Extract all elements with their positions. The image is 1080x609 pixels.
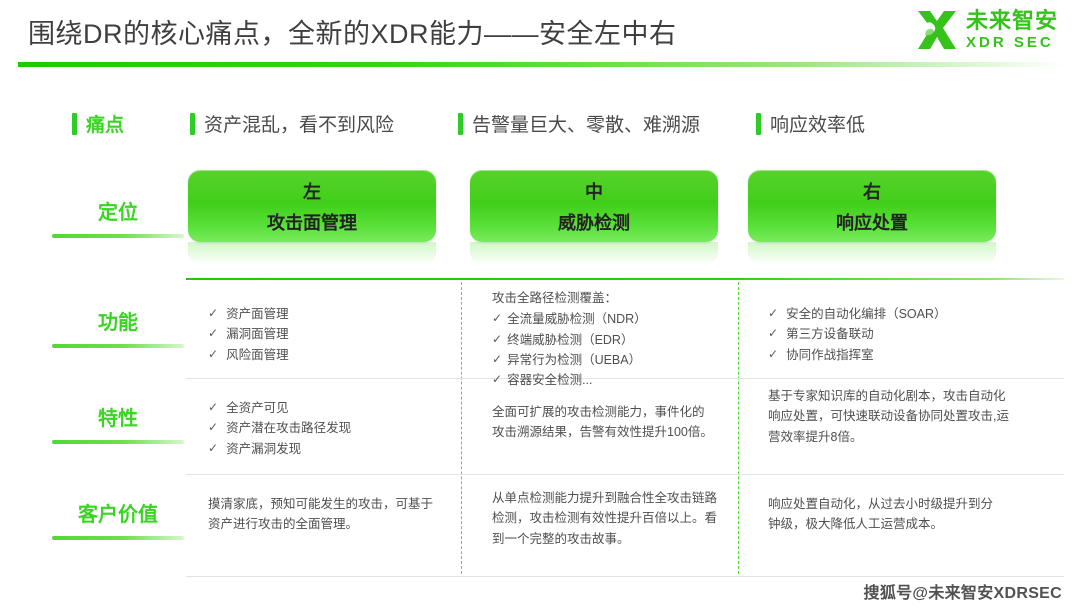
cell-function-col3: ✓安全的自动化编排（SOAR） ✓第三方设备联动 ✓协同作战指挥室 [768, 304, 1028, 365]
row-label-function-text: 功能 [52, 306, 184, 335]
list-item-label: 安全的自动化编排（SOAR） [786, 304, 946, 324]
position-box-middle-title: 中 [585, 178, 603, 204]
customer-value-col2-text: 从单点检测能力提升到融合性全攻击链路检测，攻击检测有效性提升百倍以上。看到一个完… [492, 488, 720, 549]
check-icon: ✓ [208, 304, 218, 323]
position-box-middle-subtitle: 威胁检测 [558, 209, 630, 235]
position-box-right-subtitle: 响应处置 [836, 209, 908, 235]
box-reflection [748, 242, 996, 264]
list-item-label: 风险面管理 [226, 345, 289, 365]
box-reflection [188, 242, 436, 264]
list-item: ✓容器安全检测... [492, 370, 732, 390]
green-bar-icon [72, 113, 77, 135]
list-item-label: 资产潜在攻击路径发现 [226, 418, 351, 438]
feature-col1-list: ✓全资产可见 ✓资产潜在攻击路径发现 ✓资产漏洞发现 [208, 398, 448, 459]
list-item-label: 第三方设备联动 [786, 324, 874, 344]
list-item: ✓全资产可见 [208, 398, 448, 418]
pain-point-row: 痛点 资产混乱，看不到风险 告警量巨大、零散、难溯源 响应效率低 [0, 104, 1080, 144]
cell-feature-col1: ✓全资产可见 ✓资产潜在攻击路径发现 ✓资产漏洞发现 [208, 398, 448, 459]
row-label-function: 功能 [52, 306, 184, 348]
pain-point-item-3: 响应效率低 [756, 110, 865, 137]
function-col1-list: ✓资产面管理 ✓漏洞面管理 ✓风险面管理 [208, 304, 448, 365]
cell-feature-col3: 基于专家知识库的自动化剧本，攻击自动化响应处置，可快速联动设备协同处置攻击,运营… [768, 386, 1013, 447]
pain-point-header-label: 痛点 [72, 110, 124, 137]
function-col2-list: ✓全流量威胁检测（NDR） ✓终端威胁检测（EDR） ✓异常行为检测（UEBA）… [492, 309, 732, 390]
list-item-label: 漏洞面管理 [226, 324, 289, 344]
row-label-customer-value: 客户价值 [52, 498, 184, 540]
check-icon: ✓ [492, 330, 502, 349]
list-item: ✓终端威胁检测（EDR） [492, 330, 732, 350]
list-item-label: 终端威胁检测（EDR） [507, 330, 633, 350]
column-separator-1 [461, 282, 462, 574]
check-icon: ✓ [768, 324, 778, 343]
position-box-left[interactable]: 左 攻击面管理 [188, 170, 436, 242]
list-item: ✓第三方设备联动 [768, 324, 1028, 344]
list-item-label: 容器安全检测... [507, 370, 592, 390]
list-item-label: 异常行为检测（UEBA） [507, 350, 641, 370]
pain-point-text-1: 资产混乱，看不到风险 [204, 110, 394, 137]
bottom-divider [186, 576, 1064, 577]
cell-customer-value-col1: 摸清家底，预知可能发生的攻击，可基于资产进行攻击的全面管理。 [208, 494, 440, 535]
logo-text-en: XDR SEC [966, 35, 1058, 50]
list-item: ✓资产潜在攻击路径发现 [208, 418, 448, 438]
feature-col3-text: 基于专家知识库的自动化剧本，攻击自动化响应处置，可快速联动设备协同处置攻击,运营… [768, 386, 1013, 447]
box-reflection [470, 242, 718, 264]
cell-feature-col2: 全面可扩展的攻击检测能力，事件化的攻击溯源结果，告警有效性提升100倍。 [492, 402, 714, 443]
list-item: ✓漏洞面管理 [208, 324, 448, 344]
row-label-feature: 特性 [52, 402, 184, 444]
green-bar-icon [190, 113, 195, 135]
list-item: ✓资产漏洞发现 [208, 439, 448, 459]
function-col3-list: ✓安全的自动化编排（SOAR） ✓第三方设备联动 ✓协同作战指挥室 [768, 304, 1028, 365]
list-item: ✓资产面管理 [208, 304, 448, 324]
matrix-body: 功能 ✓资产面管理 ✓漏洞面管理 ✓风险面管理 攻击全路径检测覆盖： ✓全流量威… [0, 282, 1080, 582]
brand-logo: 未来智安 XDR SEC [915, 8, 1058, 52]
row-label-underline [52, 440, 184, 444]
cell-function-col2: 攻击全路径检测覆盖： ✓全流量威胁检测（NDR） ✓终端威胁检测（EDR） ✓异… [492, 288, 732, 390]
check-icon: ✓ [492, 350, 502, 369]
cell-function-col1: ✓资产面管理 ✓漏洞面管理 ✓风险面管理 [208, 304, 448, 365]
page-title: 围绕DR的核心痛点，全新的XDR能力——安全左中右 [28, 12, 677, 51]
check-icon: ✓ [208, 439, 218, 458]
list-item-label: 全资产可见 [226, 398, 289, 418]
list-item: ✓异常行为检测（UEBA） [492, 350, 732, 370]
list-item: ✓协同作战指挥室 [768, 345, 1028, 365]
column-separator-2 [738, 282, 739, 574]
function-col2-lead: 攻击全路径检测覆盖： [492, 288, 732, 308]
list-item-label: 资产面管理 [226, 304, 289, 324]
pain-point-text-2: 告警量巨大、零散、难溯源 [472, 110, 700, 137]
pain-label-text: 痛点 [86, 110, 124, 137]
check-icon: ✓ [768, 345, 778, 364]
header-divider [18, 62, 1064, 67]
pain-point-text-3: 响应效率低 [770, 110, 865, 137]
logo-text-cn: 未来智安 [966, 10, 1058, 32]
customer-value-col1-text: 摸清家底，预知可能发生的攻击，可基于资产进行攻击的全面管理。 [208, 494, 440, 535]
row-label-underline [52, 536, 184, 540]
position-box-left-subtitle: 攻击面管理 [267, 209, 357, 235]
watermark: 搜狐号@未来智安XDRSEC [864, 579, 1062, 603]
row-label-customer-value-text: 客户价值 [52, 498, 184, 527]
cell-customer-value-col3: 响应处置自动化，从过去小时级提升到分钟级，极大降低人工运营成本。 [768, 494, 1000, 535]
green-bar-icon [458, 113, 463, 135]
list-item-label: 协同作战指挥室 [786, 345, 874, 365]
slide-header: 围绕DR的核心痛点，全新的XDR能力——安全左中右 未来智安 XDR SEC [0, 0, 1080, 62]
pain-point-item-1: 资产混乱，看不到风险 [190, 110, 394, 137]
check-icon: ✓ [208, 398, 218, 417]
cell-customer-value-col2: 从单点检测能力提升到融合性全攻击链路检测，攻击检测有效性提升百倍以上。看到一个完… [492, 488, 720, 549]
logo-mark-icon [915, 8, 959, 52]
check-icon: ✓ [208, 418, 218, 437]
slide-root: 围绕DR的核心痛点，全新的XDR能力——安全左中右 未来智安 XDR SEC 痛… [0, 0, 1080, 609]
list-item: ✓全流量威胁检测（NDR） [492, 309, 732, 329]
pain-point-item-2: 告警量巨大、零散、难溯源 [458, 110, 700, 137]
check-icon: ✓ [208, 345, 218, 364]
position-box-right[interactable]: 右 响应处置 [748, 170, 996, 242]
check-icon: ✓ [492, 370, 502, 389]
list-item-label: 全流量威胁检测（NDR） [507, 309, 647, 329]
position-box-middle[interactable]: 中 威胁检测 [470, 170, 718, 242]
position-box-left-title: 左 [303, 178, 321, 204]
feature-col2-text: 全面可扩展的攻击检测能力，事件化的攻击溯源结果，告警有效性提升100倍。 [492, 402, 714, 443]
check-icon: ✓ [492, 309, 502, 328]
position-box-right-title: 右 [863, 178, 881, 204]
position-boxes: 左 攻击面管理 中 威胁检测 右 响应处置 [0, 170, 1080, 250]
list-item: ✓风险面管理 [208, 345, 448, 365]
check-icon: ✓ [768, 304, 778, 323]
list-item: ✓安全的自动化编排（SOAR） [768, 304, 1028, 324]
row-label-feature-text: 特性 [52, 402, 184, 431]
customer-value-col3-text: 响应处置自动化，从过去小时级提升到分钟级，极大降低人工运营成本。 [768, 494, 1000, 535]
row-separator-feature [186, 474, 1064, 475]
list-item-label: 资产漏洞发现 [226, 439, 301, 459]
green-bar-icon [756, 113, 761, 135]
boxes-bottom-divider [186, 278, 1064, 280]
check-icon: ✓ [208, 324, 218, 343]
logo-wordmark: 未来智安 XDR SEC [966, 10, 1058, 50]
row-label-underline [52, 344, 184, 348]
